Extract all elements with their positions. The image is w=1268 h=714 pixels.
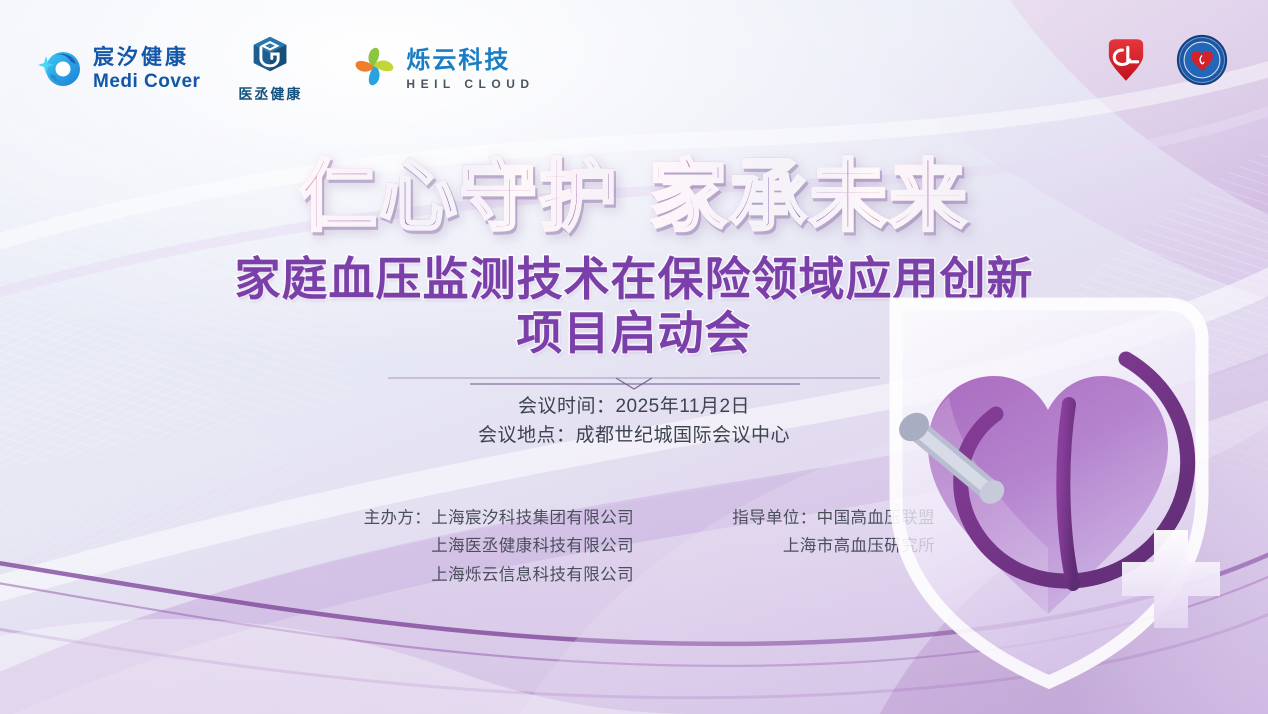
- host-item: 上海烁云信息科技有限公司: [342, 561, 634, 589]
- main-title: 仁心守护家承未来: [0, 158, 1268, 236]
- host-column: 主办方：上海宸汐科技集团有限公司 上海医丞健康科技有限公司 上海烁云信息科技有限…: [342, 504, 634, 589]
- shield-heart-stethoscope-emblem: [836, 284, 1268, 704]
- main-title-part2: 家承未来: [649, 152, 969, 242]
- main-title-part1: 仁心守护: [299, 152, 619, 242]
- host-item: 上海医丞健康科技有限公司: [342, 532, 634, 560]
- poster-canvas: 宸汐健康 Medi Cover 医丞健康: [0, 0, 1268, 714]
- host-item: 主办方：上海宸汐科技集团有限公司: [342, 504, 634, 532]
